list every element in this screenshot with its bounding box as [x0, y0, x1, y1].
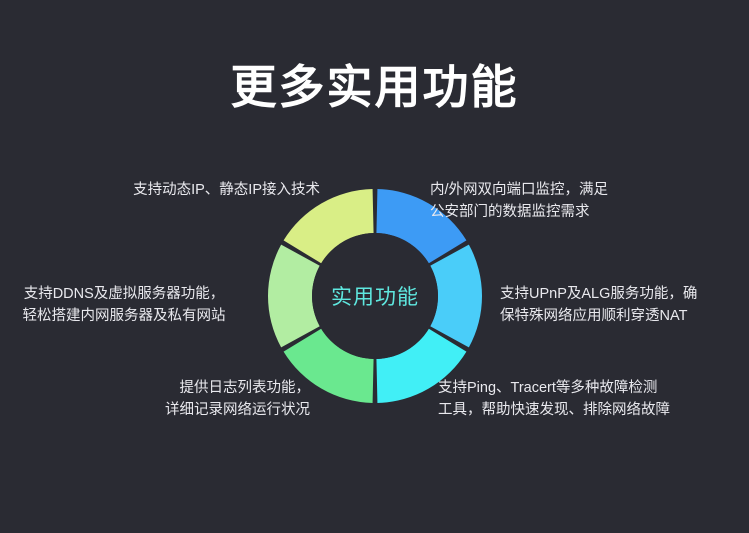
callout-ping-tracert: 支持Ping、Tracert等多种故障检测 工具，帮助快速发现、排除网络故障	[438, 377, 738, 422]
donut-center-hole	[312, 233, 438, 359]
callout-port-monitoring: 内/外网双向端口监控，满足 公安部门的数据监控需求	[430, 179, 730, 224]
callout-upnp-alg: 支持UPnP及ALG服务功能，确 保特殊网络应用顺利穿透NAT	[500, 283, 749, 328]
callout-log-list: 提供日志列表功能， 详细记录网络运行状况	[20, 377, 310, 422]
callout-ddns-virtual-server: 支持DDNS及虚拟服务器功能， 轻松搭建内网服务器及私有网站	[0, 283, 248, 328]
page-title: 更多实用功能	[0, 60, 749, 115]
slide-canvas: 更多实用功能 实用功能 支持动态IP、静态IP接入技术 内/外网双向端口监控，满…	[0, 0, 749, 533]
donut-segment-right	[430, 245, 482, 348]
donut-segment-left	[268, 245, 320, 348]
callout-dynamic-static-ip: 支持动态IP、静态IP接入技术	[20, 179, 320, 201]
